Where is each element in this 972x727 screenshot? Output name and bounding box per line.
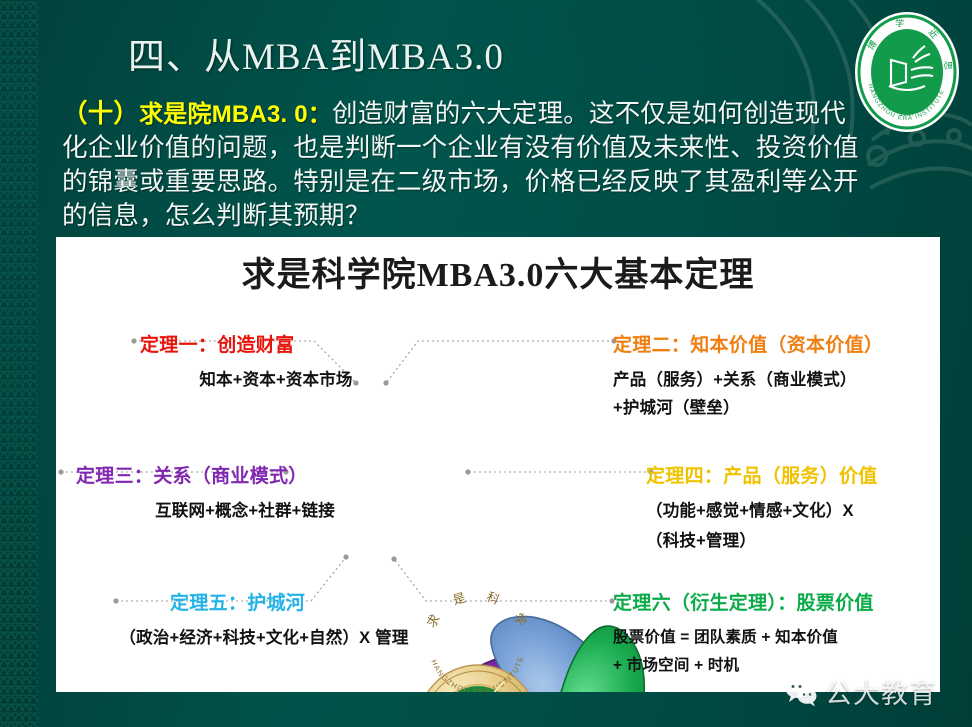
theorem-4-line-1: （功能+感觉+情感+文化）X bbox=[646, 499, 946, 525]
body-highlight-label: 求是院MBA3. 0： bbox=[139, 101, 332, 128]
theorem-2-line-1: 产品（服务）+关系（商业模式） bbox=[613, 368, 943, 394]
theorem-2-heading: 定理二：知本价值（资本价值） bbox=[613, 330, 943, 357]
diagram-title: 求是科学院MBA3.0六大基本定理 bbox=[56, 247, 940, 296]
theorem-1-label: 定理一：创造财富 知本+资本+资本市场 bbox=[136, 330, 416, 394]
theorem-1-heading: 定理一：创造财富 bbox=[140, 330, 416, 357]
wechat-icon bbox=[784, 677, 818, 707]
theorem-6-line-1: 股票价值 = 团队素质 + 知本价值 bbox=[613, 626, 948, 650]
body-highlight-paren: （十） bbox=[62, 99, 139, 128]
hangzhou-era-institute-logo: 博 学 近 思 HANGZHOU ERA INSTITUTE 1997 bbox=[851, 8, 963, 136]
theorem-2-label: 定理二：知本价值（资本价值） 产品（服务）+关系（商业模式） +护城河（壁垒） bbox=[613, 330, 943, 421]
theorem-6-heading: 定理六（衍生定理）：股票价值 bbox=[613, 588, 948, 615]
theorem-3-heading: 定理三：关系（商业模式） bbox=[76, 461, 415, 488]
theorem-3-label: 定理三：关系（商业模式） 互联网+概念+社群+链接 bbox=[75, 461, 415, 525]
theorem-5-label: 定理五：护城河 （政治+经济+科技+文化+自然）X 管理 bbox=[74, 588, 454, 652]
watermark-text: 公大教育 bbox=[825, 672, 937, 711]
slide-root: 四、从MBA到MBA3.0 博 学 近 思 HANGZHOU ERA INSTI… bbox=[0, 0, 972, 727]
theorem-5-line-1: （政治+经济+科技+文化+自然）X 管理 bbox=[74, 626, 454, 652]
theorem-5-heading: 定理五：护城河 bbox=[170, 588, 454, 615]
theorem-4-label: 定理四：产品（服务）价值 （功能+感觉+情感+文化）X （科技+管理） bbox=[646, 461, 946, 554]
watermark: 公大教育 bbox=[784, 672, 937, 711]
theorem-1-line-1: 知本+资本+资本市场 bbox=[136, 368, 416, 394]
background-scale-pattern-strip bbox=[0, 0, 38, 727]
body-paragraph: （十）求是院MBA3. 0：创造财富的六大定理。这不仅是如何创造现代化企业价值的… bbox=[62, 97, 862, 233]
theorem-4-heading: 定理四：产品（服务）价值 bbox=[646, 461, 946, 488]
theorem-2-line-2: +护城河（壁垒） bbox=[613, 396, 943, 422]
theorem-3-line-1: 互联网+概念+社群+链接 bbox=[75, 499, 415, 525]
page-title: 四、从MBA到MBA3.0 bbox=[128, 26, 504, 80]
svg-text:1997: 1997 bbox=[900, 111, 915, 118]
theorem-4-line-2: （科技+管理） bbox=[646, 529, 946, 555]
theorem-6-label: 定理六（衍生定理）：股票价值 股票价值 = 团队素质 + 知本价值 + 市场空间… bbox=[613, 588, 948, 678]
